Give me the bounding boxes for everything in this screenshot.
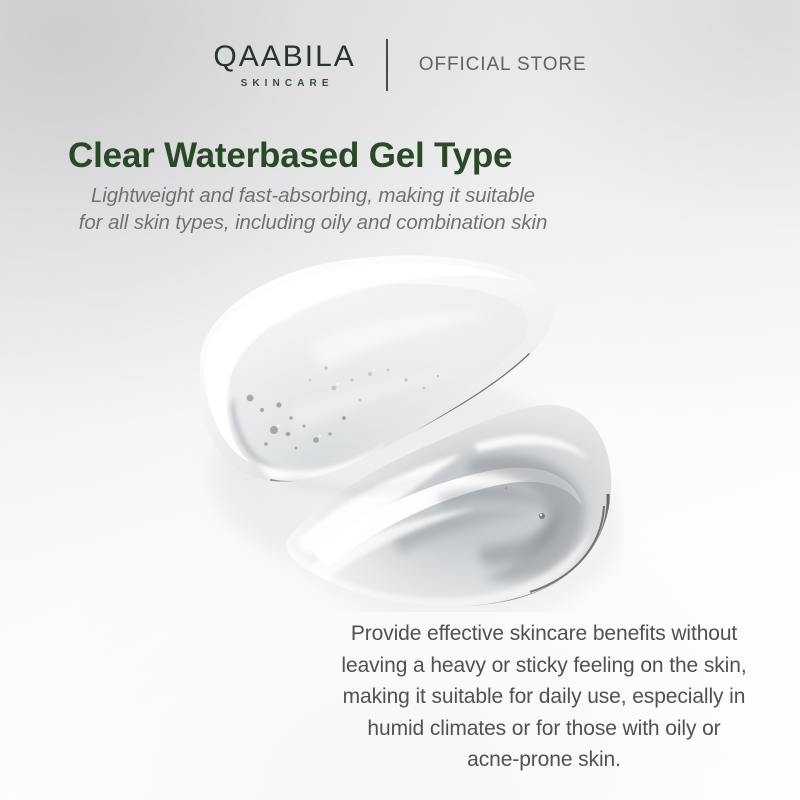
clear-gel-swatch-image [138,248,624,612]
description-line-4: humid climates or for those with oily or [294,713,794,745]
description-line-2: leaving a heavy or sticky feeling on the… [294,650,794,682]
official-store-label: OFFICIAL STORE [388,54,587,76]
brand-tagline: SKINCARE [236,79,334,89]
product-marketing-poster: QAABILA SKINCARE OFFICIAL STORE Clear Wa… [0,0,800,800]
description-paragraph: Provide effective skincare benefits with… [294,618,794,776]
brand-logo: QAABILA SKINCARE [213,42,385,89]
page-title: Clear Waterbased Gel Type [68,136,512,176]
description-line-3: making it suitable for daily use, especi… [294,681,794,713]
brand-header: QAABILA SKINCARE OFFICIAL STORE [0,36,800,94]
description-line-5: acne-prone skin. [294,744,794,776]
subheadline-line-1: Lightweight and fast-absorbing, making i… [0,182,626,209]
brand-name: QAABILA [213,42,355,72]
subheadline-line-2: for all skin types, including oily and c… [0,209,626,236]
description-line-1: Provide effective skincare benefits with… [294,618,794,650]
subheadline: Lightweight and fast-absorbing, making i… [0,182,626,237]
